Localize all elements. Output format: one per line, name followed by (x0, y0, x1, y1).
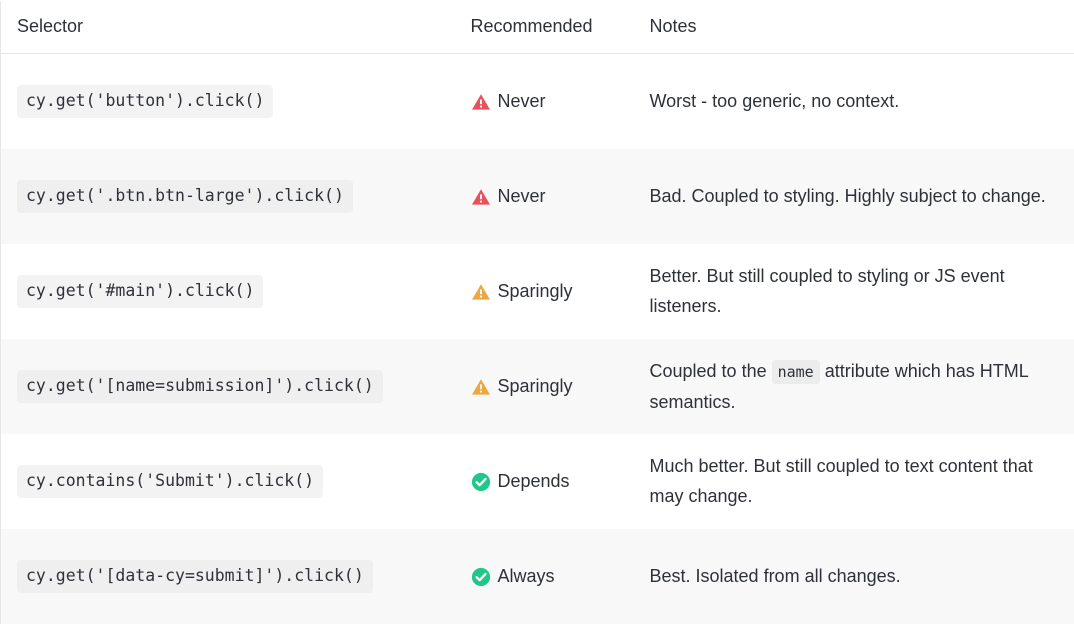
notes-text: Much better. But still coupled to text c… (650, 451, 1053, 511)
notes-text: Coupled to the name attribute which has … (650, 356, 1053, 417)
warning-triangle-icon (471, 377, 491, 397)
recommendation-label: Never (498, 90, 546, 112)
table-row: cy.get('.btn.btn-large').click()NeverBad… (1, 149, 1074, 244)
warning-triangle-icon (471, 187, 491, 207)
selector-code: cy.get('#main').click() (17, 275, 263, 308)
notes-inline-code: name (772, 360, 820, 384)
cell-recommended: Always (463, 529, 639, 624)
warning-triangle-icon (471, 92, 491, 112)
check-circle-icon (471, 567, 491, 587)
table-row: cy.get('[name=submission]').click()Spari… (1, 339, 1074, 434)
recommendation-badge: Never (471, 185, 627, 207)
cell-selector: cy.get('[name=submission]').click() (1, 339, 463, 434)
cell-notes: Best. Isolated from all changes. (639, 529, 1074, 624)
selector-best-practices-table: Selector Recommended Notes cy.get('butto… (0, 0, 1074, 624)
cell-selector: cy.get('#main').click() (1, 244, 463, 339)
selector-code: cy.get('.btn.btn-large').click() (17, 180, 353, 213)
recommendation-label: Sparingly (498, 375, 573, 397)
notes-text: Bad. Coupled to styling. Highly subject … (650, 181, 1053, 211)
table-body: cy.get('button').click()NeverWorst - too… (1, 54, 1074, 624)
cell-selector: cy.get('button').click() (1, 54, 463, 149)
table-header-row: Selector Recommended Notes (1, 1, 1074, 54)
cell-recommended: Never (463, 149, 639, 244)
cell-recommended: Depends (463, 434, 639, 529)
notes-text: Worst - too generic, no context. (650, 86, 1053, 116)
cell-recommended: Sparingly (463, 244, 639, 339)
cell-notes: Bad. Coupled to styling. Highly subject … (639, 149, 1074, 244)
table-row: cy.get('button').click()NeverWorst - too… (1, 54, 1074, 149)
selector-code: cy.get('[data-cy=submit]').click() (17, 560, 373, 593)
column-header-recommended: Recommended (463, 1, 639, 54)
table-row: cy.get('#main').click()SparinglyBetter. … (1, 244, 1074, 339)
selector-best-practices-table-container: Selector Recommended Notes cy.get('butto… (0, 0, 1074, 625)
notes-text: Better. But still coupled to styling or … (650, 261, 1053, 321)
warning-triangle-icon (471, 282, 491, 302)
cell-selector: cy.contains('Submit').click() (1, 434, 463, 529)
cell-selector: cy.get('[data-cy=submit]').click() (1, 529, 463, 624)
cell-notes: Worst - too generic, no context. (639, 54, 1074, 149)
cell-recommended: Never (463, 54, 639, 149)
column-header-notes: Notes (639, 1, 1074, 54)
cell-notes: Better. But still coupled to styling or … (639, 244, 1074, 339)
check-circle-icon (471, 472, 491, 492)
recommendation-label: Always (498, 565, 555, 587)
notes-text-before: Bad. Coupled to styling. Highly subject … (650, 186, 1046, 206)
selector-code: cy.get('[name=submission]').click() (17, 370, 383, 403)
notes-text-before: Worst - too generic, no context. (650, 91, 900, 111)
recommendation-badge: Sparingly (471, 375, 627, 397)
recommendation-label: Sparingly (498, 280, 573, 302)
table-header: Selector Recommended Notes (1, 1, 1074, 54)
notes-text: Best. Isolated from all changes. (650, 561, 1053, 591)
recommendation-badge: Never (471, 90, 627, 112)
column-header-selector: Selector (1, 1, 463, 54)
recommendation-label: Depends (498, 470, 570, 492)
table-row: cy.contains('Submit').click()DependsMuch… (1, 434, 1074, 529)
table-row: cy.get('[data-cy=submit]').click()Always… (1, 529, 1074, 624)
notes-text-before: Much better. But still coupled to text c… (650, 456, 1033, 506)
cell-selector: cy.get('.btn.btn-large').click() (1, 149, 463, 244)
selector-code: cy.contains('Submit').click() (17, 465, 323, 498)
notes-text-before: Better. But still coupled to styling or … (650, 266, 1005, 316)
cell-notes: Coupled to the name attribute which has … (639, 339, 1074, 434)
selector-code: cy.get('button').click() (17, 85, 273, 118)
recommendation-label: Never (498, 185, 546, 207)
recommendation-badge: Always (471, 565, 627, 587)
notes-text-before: Coupled to the (650, 361, 772, 381)
recommendation-badge: Depends (471, 470, 627, 492)
cell-notes: Much better. But still coupled to text c… (639, 434, 1074, 529)
notes-text-before: Best. Isolated from all changes. (650, 566, 901, 586)
recommendation-badge: Sparingly (471, 280, 627, 302)
cell-recommended: Sparingly (463, 339, 639, 434)
